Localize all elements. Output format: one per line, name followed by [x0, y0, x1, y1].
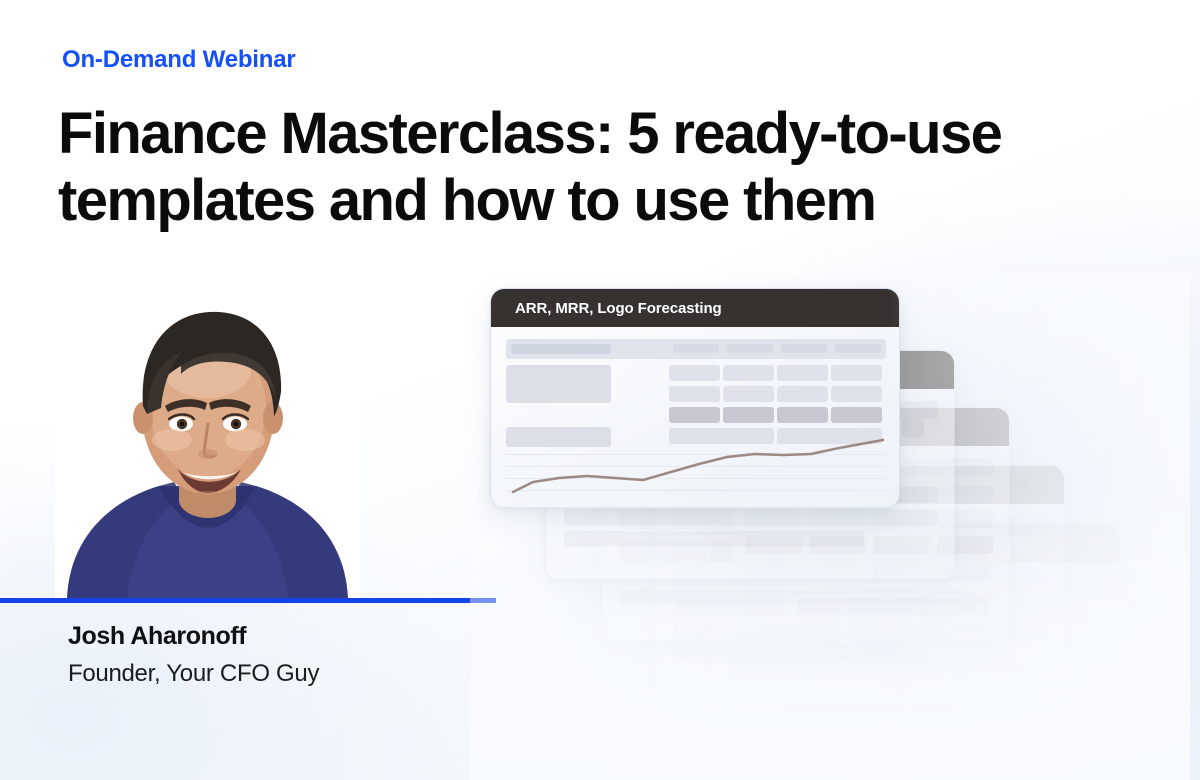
webinar-promo-canvas: On-Demand Webinar Finance Masterclass: 5…	[0, 0, 1200, 780]
page-title: Finance Masterclass: 5 ready-to-use temp…	[58, 100, 1148, 235]
card-1-title: ARR, MRR, Logo Forecasting	[515, 300, 722, 317]
speaker-name: Josh Aharonoff	[68, 622, 246, 651]
card-1-header: ARR, MRR, Logo Forecasting	[491, 289, 899, 327]
card-1-body	[491, 327, 899, 508]
headline-line-2: templates and how to use them	[58, 167, 1148, 234]
speaker-role: Founder, Your CFO Guy	[68, 660, 319, 688]
template-card-1[interactable]: ARR, MRR, Logo Forecasting	[490, 288, 900, 508]
portrait-illustration	[55, 288, 360, 600]
avatar	[55, 288, 360, 600]
eyebrow-label: On-Demand Webinar	[62, 46, 296, 74]
headline-line-1: Finance Masterclass: 5 ready-to-use	[58, 101, 1001, 166]
accent-divider	[0, 598, 496, 603]
card-1-line-chart	[491, 327, 900, 508]
template-card-stack: ARR, MRR, Logo Forecasting	[470, 270, 1170, 770]
